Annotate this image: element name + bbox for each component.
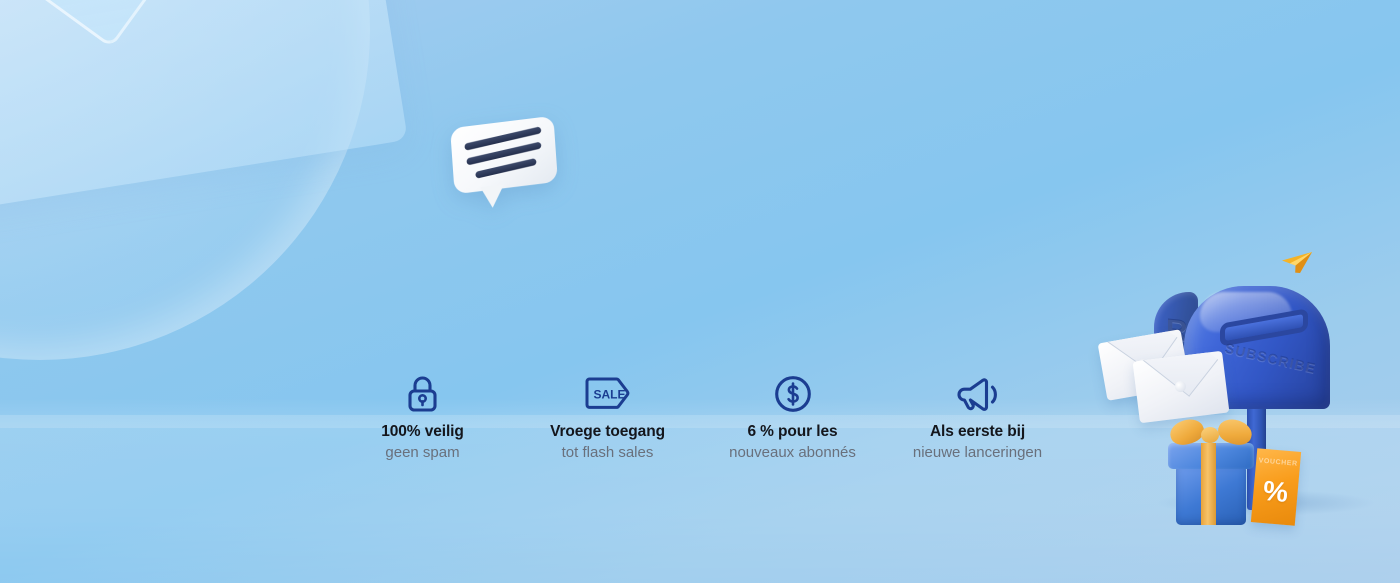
gift-bow-loop <box>1215 416 1254 448</box>
envelope-seal <box>1174 380 1186 392</box>
floating-speech-bubble <box>450 116 558 195</box>
speech-bubble-tail <box>480 184 505 209</box>
feature-title: Als eerste bij <box>930 423 1025 441</box>
coupon-percent-symbol: % <box>1262 475 1290 509</box>
feature-subtitle: nouveaux abonnés <box>729 444 856 462</box>
gift-ribbon <box>1201 443 1216 525</box>
mailbox-scene: R SUBSCRIBE VOUCHER % <box>1096 238 1400 538</box>
feature-title: 6 % pour les <box>747 423 837 441</box>
lock-icon <box>406 374 440 414</box>
coupon-top-text: VOUCHER <box>1256 457 1300 468</box>
dollar-coin-icon <box>773 374 813 414</box>
feature-item-safe: 100% veilig geen spam <box>330 374 515 462</box>
feature-item-discount: 6 % pour les nouveaux abonnés <box>700 374 885 462</box>
feature-subtitle: nieuwe lanceringen <box>913 444 1042 462</box>
sale-tag-label: SALE <box>593 388 625 402</box>
feature-item-new-launches: Als eerste bij nieuwe lanceringen <box>885 374 1070 462</box>
discount-coupon: VOUCHER % <box>1251 448 1301 526</box>
feature-title: 100% veilig <box>381 423 463 441</box>
paper-plane-icon <box>1280 250 1314 276</box>
newsletter-hero-banner: 100% veilig geen spam SALE Vroege toegan… <box>0 0 1400 583</box>
envelope <box>1133 351 1230 424</box>
feature-subtitle: tot flash sales <box>562 444 654 462</box>
megaphone-icon <box>955 374 1001 414</box>
gift-bow <box>1170 420 1252 446</box>
feature-item-early-access: SALE Vroege toegang tot flash sales <box>515 374 700 462</box>
gift-bow-knot <box>1201 427 1219 443</box>
feature-subtitle: geen spam <box>385 444 459 462</box>
feature-title: Vroege toegang <box>550 423 665 441</box>
sale-tag-icon: SALE <box>584 374 632 414</box>
feature-list: 100% veilig geen spam SALE Vroege toegan… <box>330 374 1070 462</box>
